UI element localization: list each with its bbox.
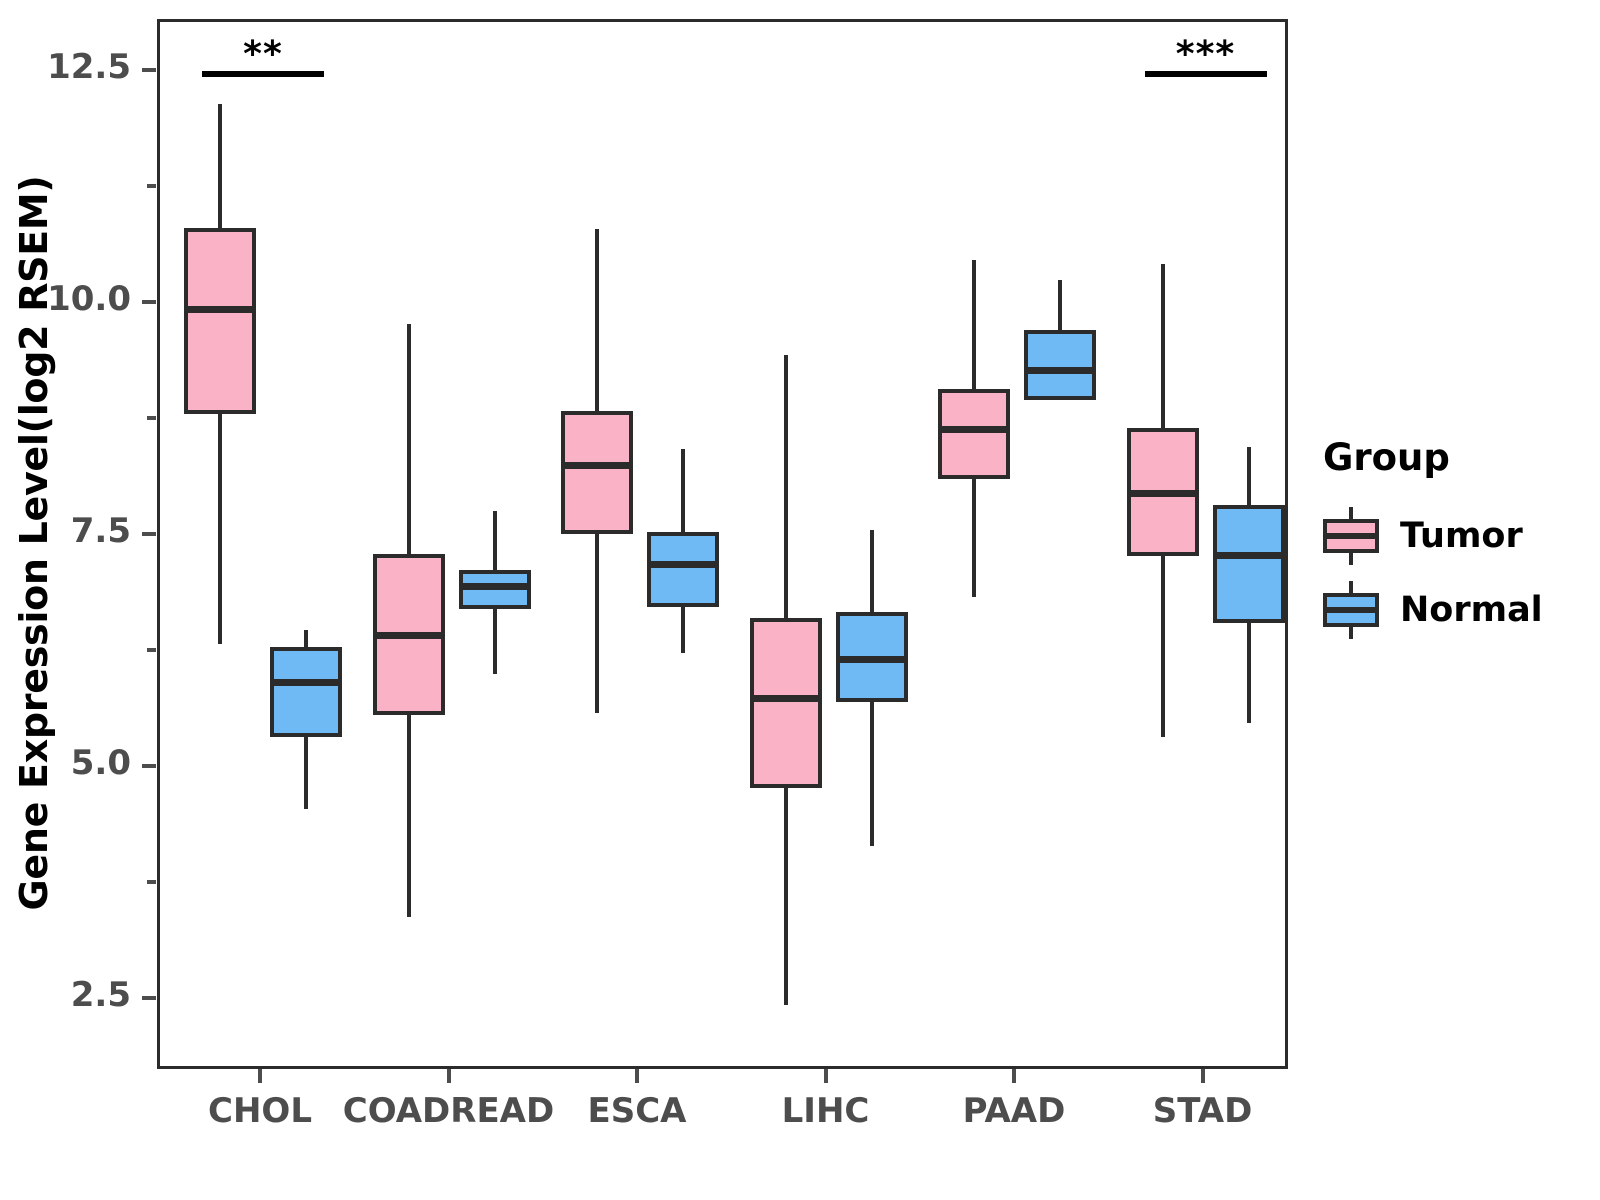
legend: Group Tumor Normal — [1320, 436, 1580, 647]
boxplot-coadread-tumor-median — [373, 632, 445, 639]
boxplot-paad-normal-median — [1024, 367, 1096, 374]
boxplot-chol-tumor-box[interactable] — [184, 228, 256, 415]
boxplot-lihc-tumor-median — [750, 695, 822, 702]
boxplot-esca-tumor-box[interactable] — [561, 411, 633, 534]
boxplot-chol-tumor-median — [184, 306, 256, 313]
y-axis-tick-label: 7.5 — [0, 511, 131, 551]
y-axis-tick — [142, 764, 156, 768]
y-axis-tick — [142, 996, 156, 1000]
boxplot-stad-normal-median — [1213, 552, 1285, 559]
legend-key-tumor-icon — [1320, 505, 1382, 567]
boxplot-lihc-tumor-box[interactable] — [750, 618, 822, 789]
x-axis-tick — [1201, 1069, 1205, 1083]
boxplot-esca-tumor-median — [561, 462, 633, 469]
y-axis-minor-tick — [147, 648, 156, 652]
boxplot-paad-normal-box[interactable] — [1024, 330, 1096, 400]
y-axis-minor-tick — [147, 880, 156, 884]
boxplot-esca-normal-box[interactable] — [647, 532, 719, 606]
boxplot-stad-normal-box[interactable] — [1213, 505, 1285, 624]
y-axis-tick-label: 10.0 — [0, 279, 131, 319]
boxplot-chol-normal-median — [270, 679, 342, 686]
x-axis-tick — [1012, 1069, 1016, 1083]
y-axis-tick-label: 5.0 — [0, 743, 131, 783]
x-axis-tick — [258, 1069, 262, 1083]
x-axis-tick-label-paad: PAAD — [963, 1091, 1066, 1131]
boxplot-stad-tumor-median — [1127, 490, 1199, 497]
boxplot-coadread-normal-median — [459, 583, 531, 590]
plot-area: ***** — [160, 22, 1285, 1066]
y-axis-tick — [142, 68, 156, 72]
y-axis-tick-label: 12.5 — [0, 47, 131, 87]
x-axis-tick-label-coadread: COADREAD — [343, 1091, 554, 1131]
y-axis-tick-label: 2.5 — [0, 975, 131, 1015]
boxplot-paad-tumor-box[interactable] — [938, 389, 1010, 480]
x-axis-tick-label-esca: ESCA — [588, 1091, 687, 1131]
boxplot-lihc-normal-median — [836, 656, 908, 663]
significance-stars-stad: *** — [1176, 37, 1235, 73]
significance-stars-chol: ** — [243, 37, 283, 73]
plot-panel: ***** — [157, 19, 1288, 1069]
legend-item-tumor[interactable]: Tumor — [1320, 499, 1580, 573]
legend-label-tumor: Tumor — [1400, 516, 1523, 556]
boxplot-paad-tumor-median — [938, 426, 1010, 433]
legend-key-normal-icon — [1320, 579, 1382, 641]
y-axis-minor-tick — [147, 416, 156, 420]
legend-item-normal[interactable]: Normal — [1320, 573, 1580, 647]
chart-root: Gene Expression Level(log2 RSEM) 2.55.07… — [0, 0, 1600, 1200]
legend-label-normal: Normal — [1400, 590, 1543, 630]
boxplot-esca-normal-median — [647, 561, 719, 568]
boxplot-coadread-normal-box[interactable] — [459, 570, 531, 609]
y-axis-minor-tick — [147, 184, 156, 188]
x-axis-tick-label-chol: CHOL — [208, 1091, 312, 1131]
x-axis-tick-label-lihc: LIHC — [782, 1091, 870, 1131]
x-axis-tick — [635, 1069, 639, 1083]
x-axis-tick — [447, 1069, 451, 1083]
legend-title: Group — [1323, 436, 1580, 479]
x-axis-tick-label-stad: STAD — [1153, 1091, 1253, 1131]
boxplot-chol-normal-box[interactable] — [270, 647, 342, 736]
y-axis-tick — [142, 300, 156, 304]
y-axis-tick — [142, 532, 156, 536]
x-axis-tick — [824, 1069, 828, 1083]
